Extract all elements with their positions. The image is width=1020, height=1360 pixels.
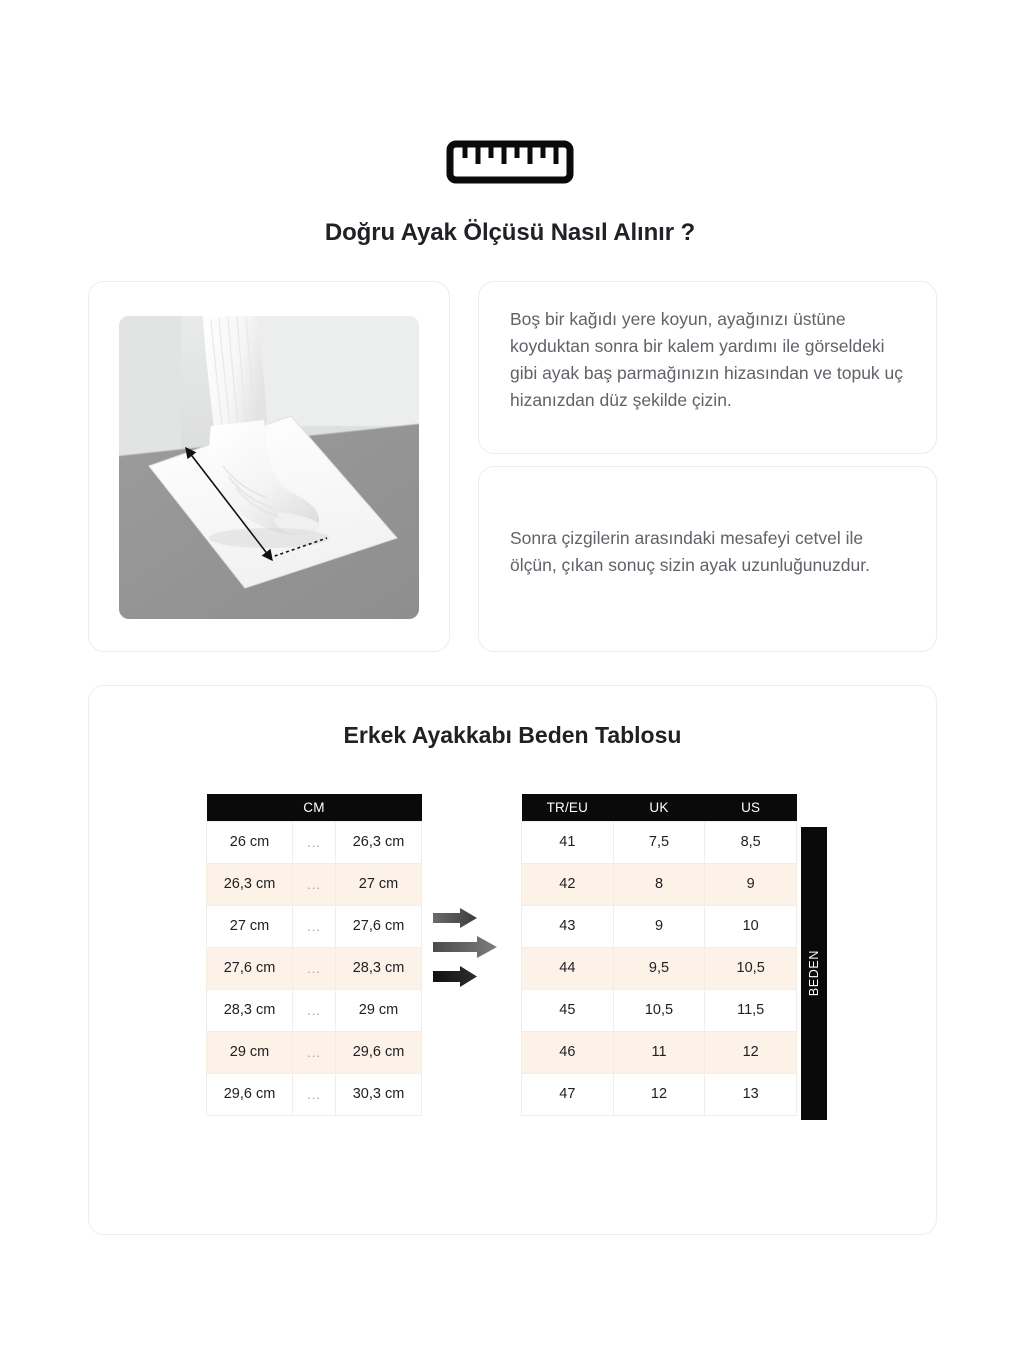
cell-treu: 44	[522, 947, 614, 989]
cell-us: 12	[705, 1031, 797, 1073]
table-row: 44 9,5 10,5	[522, 947, 797, 989]
size-table-header-row: TR/EU UK US	[522, 794, 797, 821]
triple-arrow-right-icon	[429, 906, 517, 996]
ruler-icon	[446, 140, 574, 184]
arrow-right-middle	[433, 936, 497, 958]
cm-table: CM 26 cm ... 26,3 cm 26,3 cm ... 27 cm 2…	[206, 794, 422, 1116]
page-title: Doğru Ayak Ölçüsü Nasıl Alınır ?	[0, 219, 1020, 247]
cell-treu: 42	[522, 863, 614, 905]
cell-treu: 41	[522, 821, 614, 863]
ruler-icon-container	[0, 140, 1020, 184]
cm-sep: ...	[293, 1031, 336, 1073]
cm-from: 28,3 cm	[207, 989, 293, 1031]
cm-to: 27 cm	[336, 863, 422, 905]
cell-us: 11,5	[705, 989, 797, 1031]
table-row: 42 8 9	[522, 863, 797, 905]
cm-from: 26,3 cm	[207, 863, 293, 905]
foot-photo-illustration	[119, 316, 419, 619]
table-row: 46 11 12	[522, 1031, 797, 1073]
table-row: 47 12 13	[522, 1073, 797, 1115]
cm-to: 30,3 cm	[336, 1073, 422, 1115]
cm-from: 26 cm	[207, 821, 293, 863]
cm-to: 27,6 cm	[336, 905, 422, 947]
cm-from: 27,6 cm	[207, 947, 293, 989]
table-row: 41 7,5 8,5	[522, 821, 797, 863]
table-row: 43 9 10	[522, 905, 797, 947]
cell-us: 10,5	[705, 947, 797, 989]
cm-to: 29,6 cm	[336, 1031, 422, 1073]
table-row: 27,6 cm ... 28,3 cm	[207, 947, 422, 989]
table-row: 26 cm ... 26,3 cm	[207, 821, 422, 863]
size-conversion-table: TR/EU UK US 41 7,5 8,5 42 8 9 43	[521, 794, 797, 1116]
cm-sep: ...	[293, 989, 336, 1031]
cm-to: 28,3 cm	[336, 947, 422, 989]
cell-treu: 45	[522, 989, 614, 1031]
table-row: 29,6 cm ... 30,3 cm	[207, 1073, 422, 1115]
cm-from: 29 cm	[207, 1031, 293, 1073]
arrow-right-top	[433, 908, 477, 928]
cell-uk: 9	[613, 905, 705, 947]
cm-to: 26,3 cm	[336, 821, 422, 863]
cell-uk: 10,5	[613, 989, 705, 1031]
cm-sep: ...	[293, 863, 336, 905]
header-uk: UK	[613, 794, 705, 821]
table-row: 45 10,5 11,5	[522, 989, 797, 1031]
instruction-card-1: Boş bir kağıdı yere koyun, ayağınızı üst…	[478, 281, 937, 454]
instruction-text-2: Sonra çizgilerin arasındaki mesafeyi cet…	[510, 525, 910, 579]
cm-sep: ...	[293, 947, 336, 989]
cell-treu: 46	[522, 1031, 614, 1073]
cm-sep: ...	[293, 905, 336, 947]
instruction-card-2: Sonra çizgilerin arasındaki mesafeyi cet…	[478, 466, 937, 652]
instruction-text-1: Boş bir kağıdı yere koyun, ayağınızı üst…	[510, 306, 910, 414]
cm-sep: ...	[293, 1073, 336, 1115]
cm-from: 29,6 cm	[207, 1073, 293, 1115]
cell-uk: 7,5	[613, 821, 705, 863]
size-table-title: Erkek Ayakkabı Beden Tablosu	[89, 722, 936, 749]
table-row: 27 cm ... 27,6 cm	[207, 905, 422, 947]
header-us: US	[705, 794, 797, 821]
cell-uk: 8	[613, 863, 705, 905]
foot-measurement-photo	[119, 316, 419, 619]
cell-us: 10	[705, 905, 797, 947]
cell-uk: 9,5	[613, 947, 705, 989]
cm-header-cell: CM	[207, 794, 422, 821]
cell-treu: 47	[522, 1073, 614, 1115]
table-row: 29 cm ... 29,6 cm	[207, 1031, 422, 1073]
table-row: 28,3 cm ... 29 cm	[207, 989, 422, 1031]
size-table-card: Erkek Ayakkabı Beden Tablosu CM 26 cm ..…	[88, 685, 937, 1235]
cm-table-header-row: CM	[207, 794, 422, 821]
cm-from: 27 cm	[207, 905, 293, 947]
cell-treu: 43	[522, 905, 614, 947]
arrow-right-bottom	[433, 966, 477, 987]
cm-to: 29 cm	[336, 989, 422, 1031]
beden-label-text: BEDEN	[807, 950, 821, 996]
header-treu: TR/EU	[522, 794, 614, 821]
cell-us: 13	[705, 1073, 797, 1115]
table-row: 26,3 cm ... 27 cm	[207, 863, 422, 905]
cell-uk: 12	[613, 1073, 705, 1115]
cell-us: 9	[705, 863, 797, 905]
instruction-image-card	[88, 281, 450, 652]
cell-uk: 11	[613, 1031, 705, 1073]
size-guide-page: Doğru Ayak Ölçüsü Nasıl Alınır ?	[0, 0, 1020, 1360]
beden-side-label: BEDEN	[801, 827, 827, 1120]
cm-sep: ...	[293, 821, 336, 863]
cell-us: 8,5	[705, 821, 797, 863]
